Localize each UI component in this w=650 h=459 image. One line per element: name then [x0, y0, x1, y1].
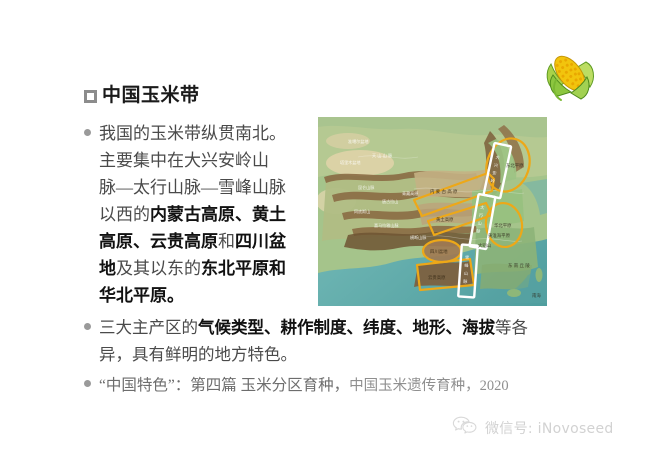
run-text: 等各 [495, 318, 528, 337]
filled-circle-bullet-icon [84, 129, 91, 136]
svg-text:塔里木盆地: 塔里木盆地 [340, 159, 360, 165]
svg-text:东 南 丘 陵: 东 南 丘 陵 [508, 262, 530, 269]
run-text: 脉—太行山脉—雪峰山脉 [99, 178, 286, 197]
svg-text:青藏高原: 青藏高原 [402, 190, 418, 196]
slide-canvas: 中国玉米带 我国的玉米带纵贯南北。 主要集中在大兴安岭山 脉—太行山脉—雪峰山脉… [0, 0, 650, 459]
run-text: 我国的玉米带纵贯南北。 [99, 124, 286, 143]
svg-text:云贵高原: 云贵高原 [428, 274, 446, 281]
run-text-bold: 高原、云贵高原 [99, 232, 218, 251]
run-text: 以西的 [99, 205, 150, 224]
run-text-bold: 地 [99, 259, 116, 278]
svg-text:南海: 南海 [532, 292, 541, 299]
svg-text:大别山: 大别山 [478, 242, 491, 249]
run-text: 和 [218, 232, 235, 251]
run-text: 异，具有鲜明的地方特色。 [99, 345, 297, 364]
svg-text:冈底斯山: 冈底斯山 [354, 208, 370, 214]
bullet-citation: “中国特色”：第四篇 玉米分区育种，中国玉米遗传育种，2020 [84, 371, 570, 400]
citation-title: “中国特色”：第四篇 玉米分区育种， [99, 377, 349, 394]
svg-text:内 蒙 古 高 原: 内 蒙 古 高 原 [430, 188, 458, 195]
run-text-bold: 东北平原和 [201, 259, 286, 278]
svg-text:四川盆地: 四川盆地 [430, 248, 448, 255]
corn-cob-illustration [540, 44, 602, 106]
bullet-text: 我国的玉米带纵贯南北。 主要集中在大兴安岭山 脉—太行山脉—雪峰山脉 以西的内蒙… [99, 120, 331, 309]
hollow-square-bullet-icon [84, 90, 97, 103]
run-text: 主要集中在大兴安岭山 [99, 151, 269, 170]
svg-text:准噶尔盆地: 准噶尔盆地 [348, 138, 368, 144]
filled-circle-bullet-icon [84, 380, 91, 387]
run-text-bold: 华北平原。 [99, 286, 184, 305]
run-text: 及其以东的 [116, 259, 201, 278]
bullet-three-regions-traits: 三大主产区的气候类型、耕作制度、纬度、地形、海拔等各 异，具有鲜明的地方特色。 [84, 314, 570, 368]
filled-circle-bullet-icon [84, 323, 91, 330]
citation-source: 中国玉米遗传育种，2020 [349, 378, 509, 394]
svg-text:横断山脉: 横断山脉 [410, 234, 426, 240]
run-text-bold: 内蒙古高原、黄土 [150, 205, 286, 224]
run-text-bold: 四川盆 [235, 232, 286, 251]
svg-text:天 山 山 脉: 天 山 山 脉 [372, 152, 392, 158]
footer-watermark: 微信号: iNovoseed [452, 416, 614, 439]
page-title-text: 中国玉米带 [102, 86, 200, 105]
run-text: 三大主产区的 [99, 318, 198, 337]
svg-text:唐古拉山: 唐古拉山 [382, 198, 398, 204]
bullet-corn-belt-description: 我国的玉米带纵贯南北。 主要集中在大兴安岭山 脉—太行山脉—雪峰山脉 以西的内蒙… [84, 120, 331, 309]
svg-text:昆仑山脉: 昆仑山脉 [358, 184, 374, 190]
wechat-icon [452, 416, 478, 439]
china-corn-belt-relief-map: 准噶尔盆地 塔里木盆地 天 山 山 脉 昆仑山脉 唐古拉山 冈底斯山 青藏高原 … [318, 117, 547, 306]
run-text-bold: 气候类型、耕作制度、纬度、地形、海拔 [198, 318, 495, 337]
svg-text:黄淮海平原: 黄淮海平原 [488, 232, 511, 239]
svg-text:东北平原: 东北平原 [506, 162, 524, 169]
footer-text: 微信号: iNovoseed [485, 418, 614, 438]
page-title: 中国玉米带 [84, 86, 200, 105]
bullet-text: 三大主产区的气候类型、耕作制度、纬度、地形、海拔等各 异，具有鲜明的地方特色。 [99, 314, 570, 368]
svg-text:黄土高原: 黄土高原 [436, 216, 454, 223]
svg-text:喜马拉雅山脉: 喜马拉雅山脉 [374, 222, 399, 228]
svg-text:华北平原: 华北平原 [494, 222, 512, 229]
bullet-text: “中国特色”：第四篇 玉米分区育种，中国玉米遗传育种，2020 [99, 371, 570, 400]
